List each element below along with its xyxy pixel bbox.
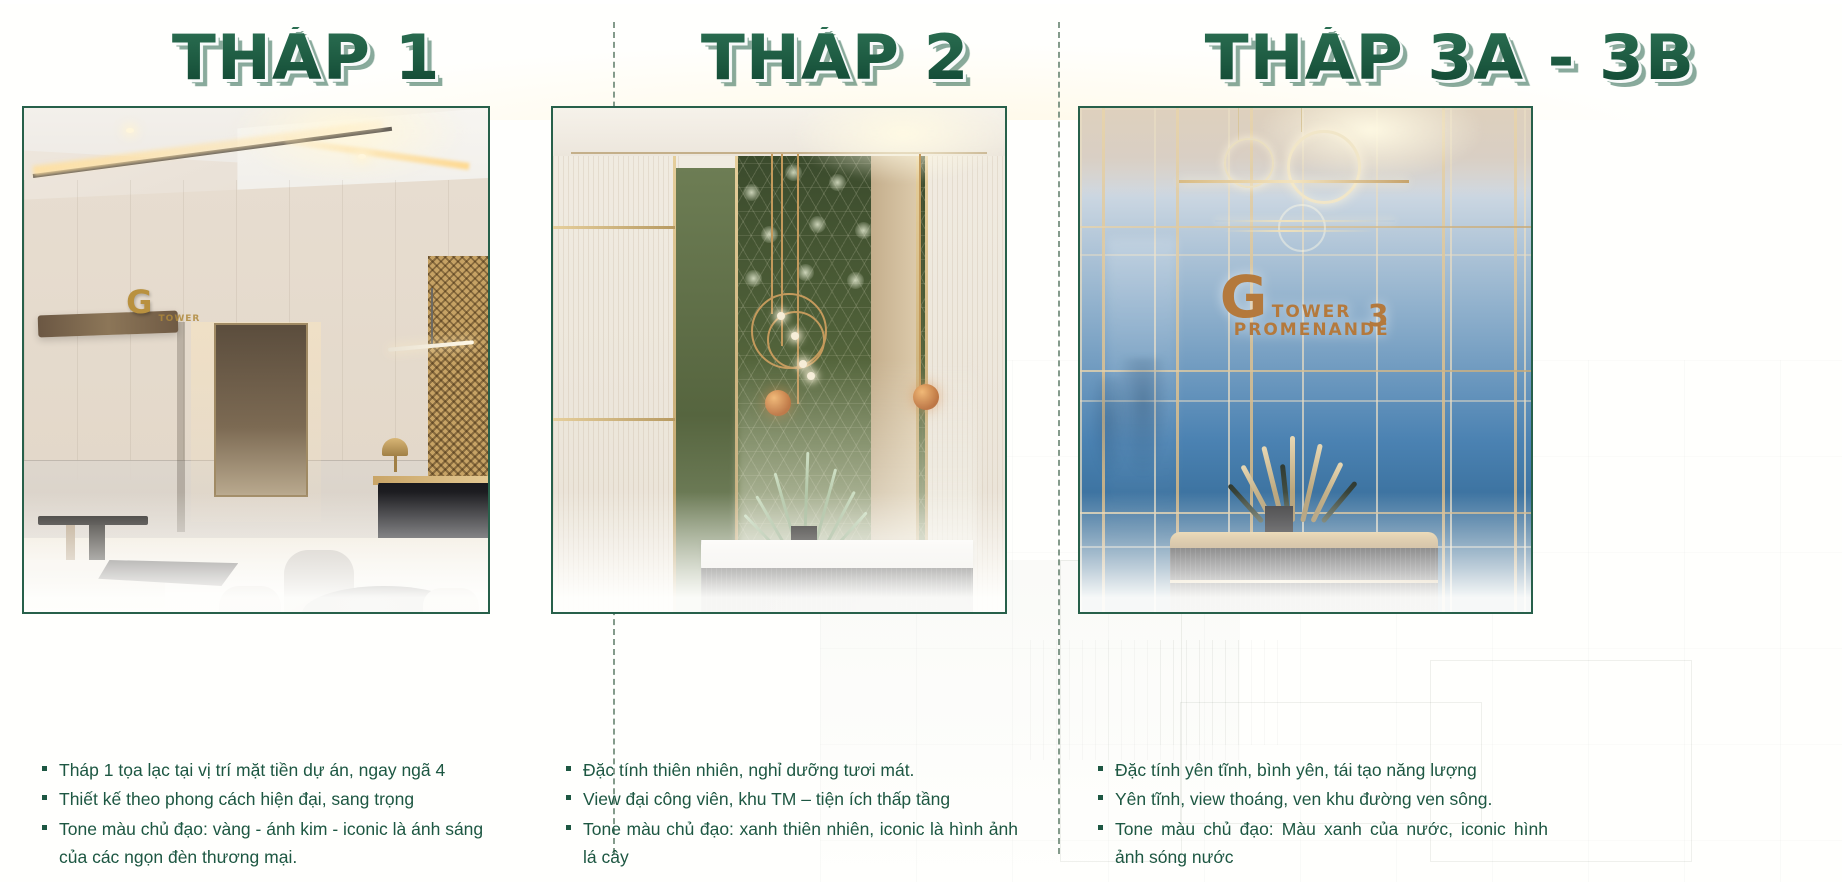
- tower-2-image-frame: [551, 106, 1007, 614]
- column-3-title: THÁP 3A - 3B: [1058, 18, 1842, 98]
- linear-light-bar: [1179, 180, 1409, 183]
- logo-text-tower: TOWER: [1272, 302, 1352, 322]
- reception-desk-top: [1170, 532, 1438, 548]
- g-logo-subtext: TOWER: [159, 314, 201, 324]
- list-item: Yên tĩnh, view thoáng, ven khu đường ven…: [1098, 785, 1548, 813]
- page-title-tower-1: THÁP 1: [172, 27, 441, 89]
- tower-3-lobby-render: G TOWER PROMENANDE 3: [1080, 108, 1531, 612]
- tower-1-image-frame: G TOWER: [22, 106, 490, 614]
- column-1-title: THÁP 1: [0, 18, 613, 98]
- slide-canvas: THÁP 1 THÁP 2 THÁP 3A - 3B G TOWER: [0, 0, 1842, 882]
- logo-letter-g: G: [1220, 268, 1268, 326]
- list-item: Tone màu chủ đạo: Màu xanh của nước, ico…: [1098, 815, 1548, 872]
- tower-1-feature-list: Tháp 1 tọa lạc tại vị trí mặt tiền dự án…: [42, 756, 494, 872]
- list-item: Tháp 1 tọa lạc tại vị trí mặt tiền dự án…: [42, 756, 494, 784]
- tower-2-feature-list: Đặc tính thiên nhiên, nghỉ dưỡng tươi má…: [566, 756, 1018, 872]
- page-title-tower-2: THÁP 2: [701, 27, 970, 89]
- tower-1-lobby-render: G TOWER: [24, 108, 488, 612]
- logo-number-3: 3: [1368, 302, 1389, 332]
- tower-3-image-frame: G TOWER PROMENANDE 3: [1078, 106, 1533, 614]
- column-separator-2: [1058, 22, 1060, 854]
- list-item: Tone màu chủ đạo: xanh thiên nhiên, icon…: [566, 815, 1018, 872]
- column-2-title: THÁP 2: [613, 18, 1058, 98]
- gold-screen-panel: [428, 256, 488, 496]
- top-edge: [0, 0, 1842, 4]
- g-logo-letter: G: [126, 283, 152, 321]
- page-title-tower-3: THÁP 3A - 3B: [1205, 27, 1695, 89]
- list-item: Đặc tính yên tĩnh, bình yên, tái tạo năn…: [1098, 756, 1548, 784]
- list-item: Đặc tính thiên nhiên, nghỉ dưỡng tươi má…: [566, 756, 1018, 784]
- list-item: Thiết kế theo phong cách hiện đại, sang …: [42, 785, 494, 813]
- tower-3-feature-list: Đặc tính yên tĩnh, bình yên, tái tạo năn…: [1098, 756, 1548, 872]
- g-tower-promenade-logo: G TOWER PROMENANDE 3: [1220, 276, 1400, 346]
- tower-2-lobby-render: [553, 108, 1005, 612]
- list-item: Tone màu chủ đạo: vàng - ánh kim - iconi…: [42, 815, 494, 872]
- lobby-door: [214, 323, 308, 497]
- list-item: View đại công viên, khu TM – tiện ích th…: [566, 785, 1018, 813]
- ring-pendant-large: [1287, 130, 1361, 204]
- logo-text-promenade: PROMENANDE: [1234, 320, 1390, 340]
